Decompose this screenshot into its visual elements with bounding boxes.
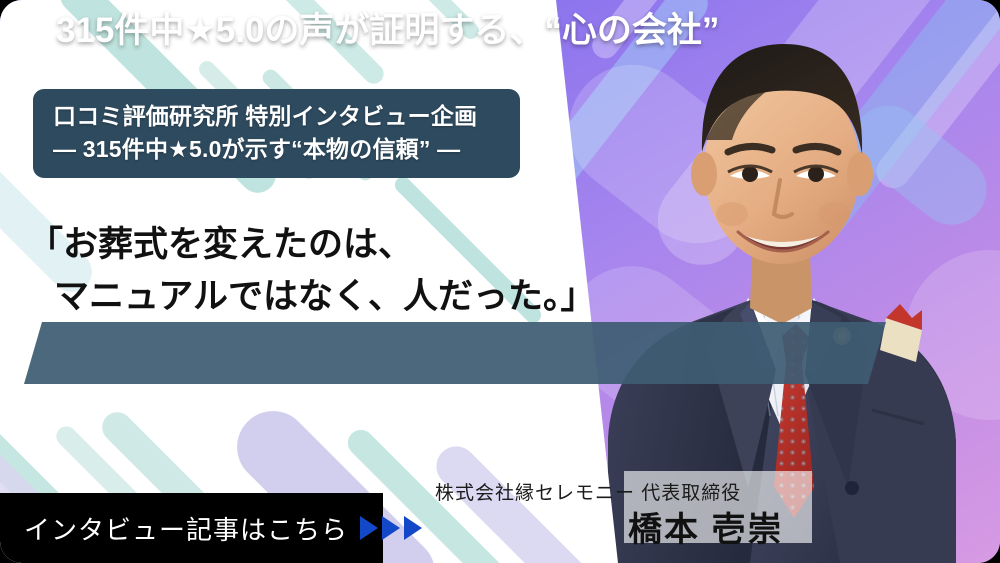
headline-quote: 「お葬式を変えたのは、 マニュアルではなく、人だった。」: [28, 219, 595, 323]
badge-line-2: — 315件中★5.0が示す“本物の信頼” —: [53, 133, 504, 166]
promo-banner-canvas: 口コミ評価研究所 特別インタビュー企画 — 315件中★5.0が示す“本物の信頼…: [0, 0, 1000, 563]
badge-line-1: 口コミ評価研究所 特別インタビュー企画: [53, 100, 504, 133]
person-name: 橋本 壱崇: [628, 502, 783, 551]
headline-banner: [24, 322, 886, 384]
triangle-right-icon: [382, 516, 400, 540]
cta-label: インタビュー記事はこちら: [24, 510, 348, 547]
quote-line-1: 「お葬式を変えたのは、: [28, 219, 595, 271]
quote-line-2: マニュアルではなく、人だった。」: [28, 271, 595, 323]
cta-button[interactable]: インタビュー記事はこちら: [0, 493, 383, 563]
campaign-badge: 口コミ評価研究所 特別インタビュー企画 — 315件中★5.0が示す“本物の信頼…: [33, 89, 520, 178]
person-role: 株式会社縁セレモニー 代表取締役: [435, 478, 741, 505]
cta-arrows: [360, 516, 422, 540]
triangle-right-icon: [404, 516, 422, 540]
triangle-right-icon: [360, 516, 378, 540]
headline-banner-text: 315件中★5.0の声が証明する、“心の会社”: [56, 7, 719, 55]
